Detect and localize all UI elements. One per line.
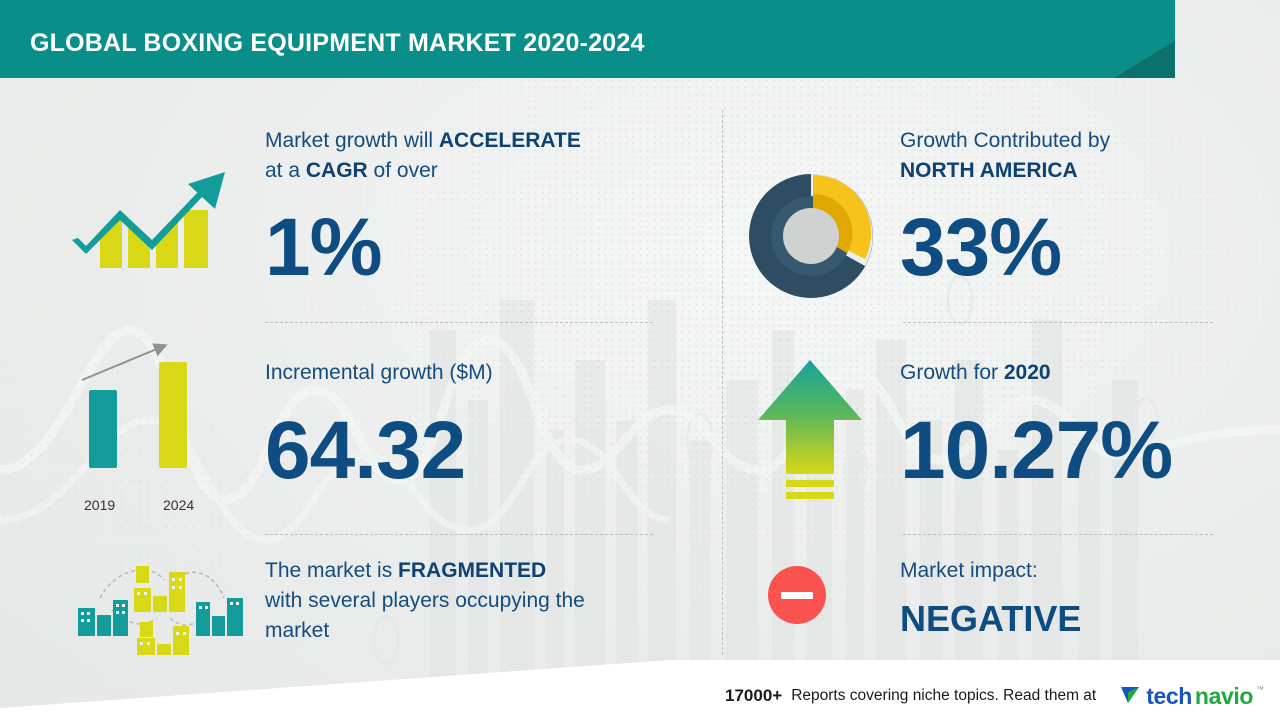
market-impact-label: Market impact: bbox=[900, 556, 1038, 586]
buildings-network-icon bbox=[78, 552, 243, 657]
left-divider-2 bbox=[265, 534, 653, 535]
fragmentation-text-block: The market is FRAGMENTED with several pl… bbox=[265, 556, 685, 646]
bar-label-2024: 2024 bbox=[163, 497, 194, 513]
minus-bar bbox=[781, 592, 813, 599]
fragmentation-line3: market bbox=[265, 619, 329, 642]
logo-text-navio: navio bbox=[1195, 685, 1253, 708]
two-bar-chart-icon bbox=[72, 332, 232, 492]
cagr-line1-bold: ACCELERATE bbox=[439, 129, 581, 152]
region-line2-bold: NORTH AMERICA bbox=[900, 159, 1078, 182]
footer-report-count: 17000+ bbox=[725, 686, 782, 706]
fragmentation-line2: with several players occupying the bbox=[265, 589, 585, 612]
market-impact-value: NEGATIVE bbox=[900, 598, 1081, 640]
cagr-line1-pre: Market growth will bbox=[265, 129, 439, 152]
content-area: Market growth will ACCELERATE at a CAGR … bbox=[0, 0, 1280, 720]
technavio-logo[interactable]: tech navio ™ bbox=[1119, 683, 1264, 708]
footer-content: 17000+ Reports covering niche topics. Re… bbox=[725, 683, 1264, 708]
cagr-line2-post: of over bbox=[368, 159, 438, 182]
yearly-growth-label-block: Growth for 2020 bbox=[900, 358, 1230, 388]
page-title: GLOBAL BOXING EQUIPMENT MARKET 2020-2024 bbox=[30, 29, 645, 58]
growth-arrow-bars-icon bbox=[70, 140, 235, 300]
right-divider-1 bbox=[903, 322, 1213, 323]
up-arrow-gradient-icon bbox=[752, 358, 868, 508]
yearly-growth-value: 10.27% bbox=[900, 408, 1172, 494]
left-divider-1 bbox=[265, 322, 653, 323]
incremental-growth-label: Incremental growth ($M) bbox=[265, 358, 493, 388]
bar-label-2019: 2019 bbox=[84, 497, 115, 513]
cagr-text-block: Market growth will ACCELERATE at a CAGR … bbox=[265, 126, 665, 186]
donut-chart-icon bbox=[743, 163, 883, 303]
fragmentation-line1-bold: FRAGMENTED bbox=[398, 559, 546, 582]
technavio-logo-mark bbox=[1119, 683, 1143, 707]
region-line1: Growth Contributed by bbox=[900, 129, 1110, 152]
right-divider-2 bbox=[903, 534, 1213, 535]
cagr-line2-bold: CAGR bbox=[306, 159, 368, 182]
yearly-growth-label-bold: 2020 bbox=[1004, 361, 1051, 384]
logo-trademark: ™ bbox=[1256, 685, 1264, 694]
minus-circle-icon bbox=[768, 566, 826, 624]
logo-text-tech: tech bbox=[1146, 685, 1192, 708]
fragmentation-line1-pre: The market is bbox=[265, 559, 398, 582]
region-text-block: Growth Contributed by NORTH AMERICA bbox=[900, 126, 1230, 186]
cagr-value: 1% bbox=[265, 205, 382, 291]
yearly-growth-label-pre: Growth for bbox=[900, 361, 1004, 384]
footer-text: Reports covering niche topics. Read them… bbox=[791, 687, 1096, 705]
cagr-line2-pre: at a bbox=[265, 159, 306, 182]
incremental-growth-value: 64.32 bbox=[265, 408, 465, 494]
column-divider bbox=[722, 110, 723, 655]
region-value: 33% bbox=[900, 205, 1061, 291]
